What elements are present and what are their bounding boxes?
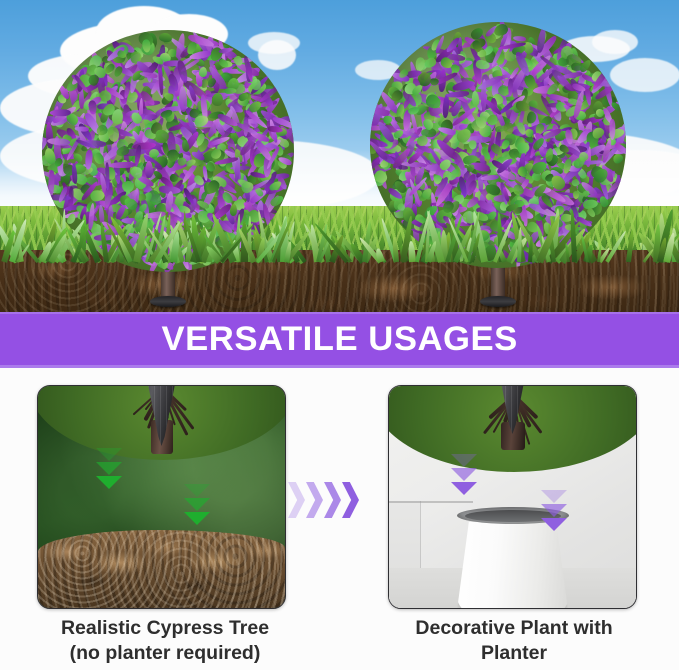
caption-right: Decorative Plant with Planter	[349, 616, 679, 666]
down-arrow-group-right	[184, 484, 210, 525]
down-arrow	[96, 462, 122, 475]
wall-trim-line	[389, 501, 473, 503]
transition-chevrons	[288, 481, 380, 519]
right-arrow	[306, 482, 323, 518]
comparison-section: Realistic Cypress Tree (no planter requi…	[0, 368, 679, 670]
down-arrow	[184, 484, 210, 497]
down-arrow	[96, 476, 122, 489]
down-arrow	[451, 468, 477, 481]
caption-left: Realistic Cypress Tree (no planter requi…	[0, 616, 330, 666]
caption-left-line2: (no planter required)	[0, 641, 330, 666]
caption-right-line2: Planter	[349, 641, 679, 666]
down-arrow	[451, 454, 477, 467]
caption-right-line1: Decorative Plant with	[349, 616, 679, 641]
down-arrow	[184, 498, 210, 511]
garden-soil	[38, 530, 285, 608]
tree-right	[0, 0, 679, 312]
down-arrow-group-right	[541, 490, 567, 531]
down-arrow-group-left	[451, 454, 477, 495]
down-arrow-group-left	[96, 448, 122, 489]
caption-left-line1: Realistic Cypress Tree	[0, 616, 330, 641]
panel-realistic-cypress-tree	[37, 385, 286, 609]
white-planter	[457, 522, 569, 609]
ground-stake-disc	[480, 296, 516, 307]
down-arrow	[541, 504, 567, 517]
panel-decorative-plant-with-planter	[388, 385, 637, 609]
banner-title: VERSATILE USAGES	[161, 320, 517, 359]
right-arrow	[288, 482, 305, 518]
down-arrow	[541, 490, 567, 503]
hero-product-photo	[0, 0, 679, 312]
versatile-usages-banner: VERSATILE USAGES	[0, 312, 679, 368]
down-arrow	[184, 512, 210, 525]
down-arrow	[451, 482, 477, 495]
right-arrow	[342, 482, 359, 518]
down-arrow	[96, 448, 122, 461]
flower-spike	[442, 94, 450, 118]
down-arrow	[541, 518, 567, 531]
right-arrow	[324, 482, 341, 518]
